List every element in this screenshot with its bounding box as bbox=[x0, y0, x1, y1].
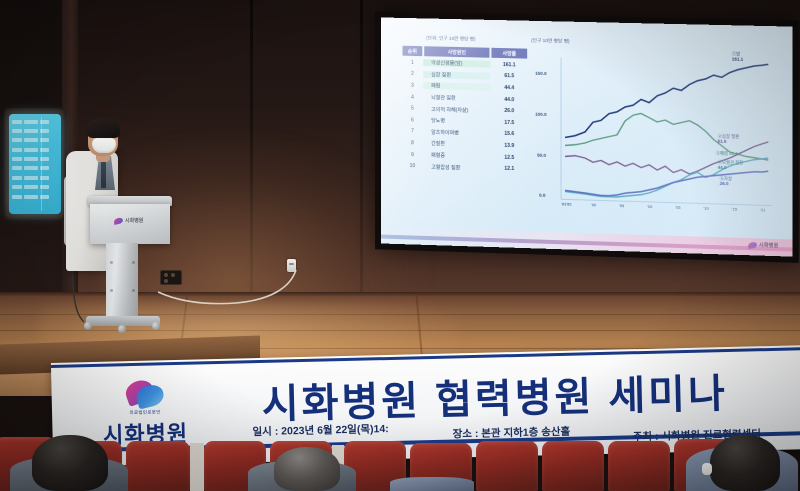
series-label-cerebrovascular: ④뇌혈관 질환44.0 bbox=[718, 160, 744, 172]
table-unit-note: (단위: 인구 10만 명당 명) bbox=[426, 35, 475, 42]
table-row: 10 고혈압성 질환 12.1 bbox=[402, 160, 529, 175]
cell-rank: 4 bbox=[402, 94, 424, 101]
theater-seat bbox=[476, 441, 538, 491]
xtick-4: '05 bbox=[675, 205, 680, 210]
xtick-5: '10 bbox=[704, 206, 709, 211]
slide-hospital-logo: 시화병원 bbox=[748, 241, 779, 249]
cell-rank: 7 bbox=[402, 128, 424, 135]
ytick-0: 0.0 bbox=[539, 193, 545, 198]
cell-rate: 61.5 bbox=[490, 73, 528, 80]
presentation-slide: (단위: 인구 10만 명당 명) (인구 10만 명당 명) 순위 사망원인 … bbox=[381, 17, 793, 256]
floor-cable bbox=[150, 262, 300, 310]
speaker-tie bbox=[101, 162, 106, 188]
face-mask-icon bbox=[702, 463, 712, 475]
speaker-hair bbox=[86, 118, 120, 138]
cell-cause: 고혈압성 질환 bbox=[423, 163, 490, 172]
chart-plot-area bbox=[535, 49, 780, 228]
hospital-swoosh-icon bbox=[114, 217, 123, 225]
cell-cause: 악성신생물(암) bbox=[423, 59, 490, 68]
audience-head bbox=[710, 435, 780, 491]
theater-seat bbox=[542, 441, 604, 491]
seminar-photo-scene: (단위: 인구 10만 명당 명) (인구 10만 명당 명) 순위 사망원인 … bbox=[0, 0, 800, 491]
cell-rate: 161.1 bbox=[490, 62, 528, 69]
caster-wheel bbox=[118, 325, 126, 333]
xtick-0: '83'85 bbox=[561, 201, 571, 206]
col-header-rank: 순위 bbox=[402, 45, 424, 57]
chart-unit-note: (인구 10만 명당 명) bbox=[531, 38, 570, 45]
theater-seat bbox=[126, 441, 190, 491]
podium-logo-text: 시화병원 bbox=[125, 217, 143, 224]
cell-cause: 심장 질환 bbox=[423, 71, 490, 80]
series-label-pneumonia: ③폐렴 44.4 bbox=[716, 151, 738, 157]
seat-gap bbox=[190, 443, 204, 491]
xtick-1: '90 bbox=[591, 202, 596, 207]
cell-rate: 44.0 bbox=[490, 96, 528, 103]
venue-info-display bbox=[9, 114, 61, 214]
mortality-trend-chart: 150.0 100.0 50.0 0.0 bbox=[535, 49, 780, 228]
cell-cause: 폐렴 bbox=[423, 82, 490, 91]
col-header-rate: 사망률 bbox=[490, 47, 528, 60]
ytick-100: 100.0 bbox=[535, 112, 546, 117]
series-label-heart: ②심장 질환61.5 bbox=[718, 134, 740, 146]
series-label-suicide: ⑤자살26.0 bbox=[720, 176, 732, 187]
cell-rank: 8 bbox=[402, 140, 424, 147]
cell-rank: 9 bbox=[402, 151, 424, 158]
cell-rate: 15.6 bbox=[490, 131, 528, 138]
ytick-50: 50.0 bbox=[537, 153, 546, 158]
hospital-swoosh-icon bbox=[748, 241, 757, 249]
audience-shoulders bbox=[390, 477, 474, 491]
col-header-cause: 사망원인 bbox=[423, 45, 490, 59]
cell-rank: 5 bbox=[402, 105, 424, 112]
cell-cause: 패혈증 bbox=[423, 152, 490, 161]
podium-front-panel bbox=[90, 204, 170, 244]
causes-of-death-table: 순위 사망원인 사망률 1 악성신생물(암) 161.1 2 심장 질환 61.… bbox=[402, 45, 529, 176]
cell-rank: 10 bbox=[402, 163, 424, 170]
xtick-3: '00 bbox=[647, 204, 652, 209]
theater-seat bbox=[608, 441, 670, 491]
ytick-150: 150.0 bbox=[535, 71, 546, 76]
cell-rate: 12.1 bbox=[490, 165, 528, 172]
cell-rate: 44.4 bbox=[490, 85, 528, 92]
cell-rate: 13.9 bbox=[490, 142, 528, 149]
cell-cause: 당뇨병 bbox=[423, 117, 490, 126]
xtick-7: '21 bbox=[760, 207, 765, 212]
cell-cause: 간질환 bbox=[423, 140, 490, 149]
slide-logo-text: 시화병원 bbox=[759, 241, 778, 249]
caster-wheel bbox=[152, 322, 160, 330]
cell-cause: 알츠하이머병 bbox=[423, 129, 490, 138]
cell-rank: 1 bbox=[402, 59, 424, 65]
xtick-2: '95 bbox=[619, 203, 624, 208]
cell-rank: 2 bbox=[402, 71, 424, 77]
cell-rate: 26.0 bbox=[490, 108, 528, 115]
podium-hospital-logo: 시화병원 bbox=[114, 217, 143, 224]
cell-rank: 6 bbox=[402, 117, 424, 124]
caster-wheel bbox=[84, 322, 92, 330]
cell-rank: 3 bbox=[402, 82, 424, 88]
audience-seating bbox=[0, 424, 800, 491]
face-mask-icon bbox=[92, 138, 116, 153]
audience-head bbox=[32, 435, 108, 491]
cell-cause: 고의적 자해(자살) bbox=[423, 105, 490, 114]
cell-rate: 12.5 bbox=[490, 154, 528, 161]
audience-head bbox=[274, 447, 340, 491]
cell-rate: 17.5 bbox=[490, 119, 528, 126]
podium-column bbox=[106, 243, 138, 319]
cell-cause: 뇌혈관 질환 bbox=[423, 94, 490, 103]
xtick-6: '15 bbox=[732, 206, 737, 211]
hospital-swoosh-icon bbox=[121, 378, 168, 409]
series-label-cancer: ①암161.1 bbox=[732, 51, 743, 62]
banner-title: 시화병원 협력병원 세미나 bbox=[261, 361, 728, 430]
